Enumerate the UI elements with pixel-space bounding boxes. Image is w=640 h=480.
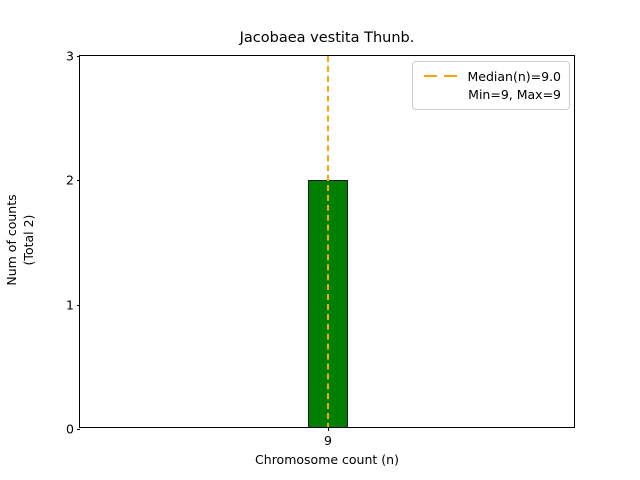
figure-canvas: Jacobaea vestita Thunb. Num of counts (T… <box>0 0 640 480</box>
y-axis-label-line2: (Total 2) <box>20 194 37 285</box>
y-axis-label: Num of counts (Total 2) <box>3 194 37 285</box>
legend-entry-median: Median(n)=9.0 <box>421 67 561 85</box>
dashed-line-icon <box>423 70 459 82</box>
y-tick-mark <box>77 429 81 430</box>
page-title: Jacobaea vestita Thunb. <box>79 30 575 46</box>
y-tick-label: 0 <box>66 422 74 437</box>
plot-area: 0123 9 <box>79 55 575 428</box>
legend: Median(n)=9.0 Min=9, Max=9 <box>412 61 570 110</box>
y-tick-mark <box>77 305 81 306</box>
legend-label-minmax: Min=9, Max=9 <box>468 87 561 102</box>
y-tick-label: 2 <box>66 173 74 188</box>
legend-entry-minmax: Min=9, Max=9 <box>421 85 561 103</box>
y-axis-label-line1: Num of counts <box>3 194 20 285</box>
x-tick-label: 9 <box>324 433 332 448</box>
y-tick-mark <box>77 56 81 57</box>
y-tick-label: 3 <box>66 49 74 64</box>
x-axis-label: Chromosome count (n) <box>79 452 575 467</box>
median-line <box>327 56 329 427</box>
y-axis-label-container: Num of counts (Total 2) <box>0 0 40 480</box>
y-tick-mark <box>77 180 81 181</box>
legend-label-median: Median(n)=9.0 <box>468 69 562 84</box>
x-tick-mark <box>328 427 329 431</box>
y-tick-label: 1 <box>66 297 74 312</box>
plot-inner <box>80 56 574 427</box>
